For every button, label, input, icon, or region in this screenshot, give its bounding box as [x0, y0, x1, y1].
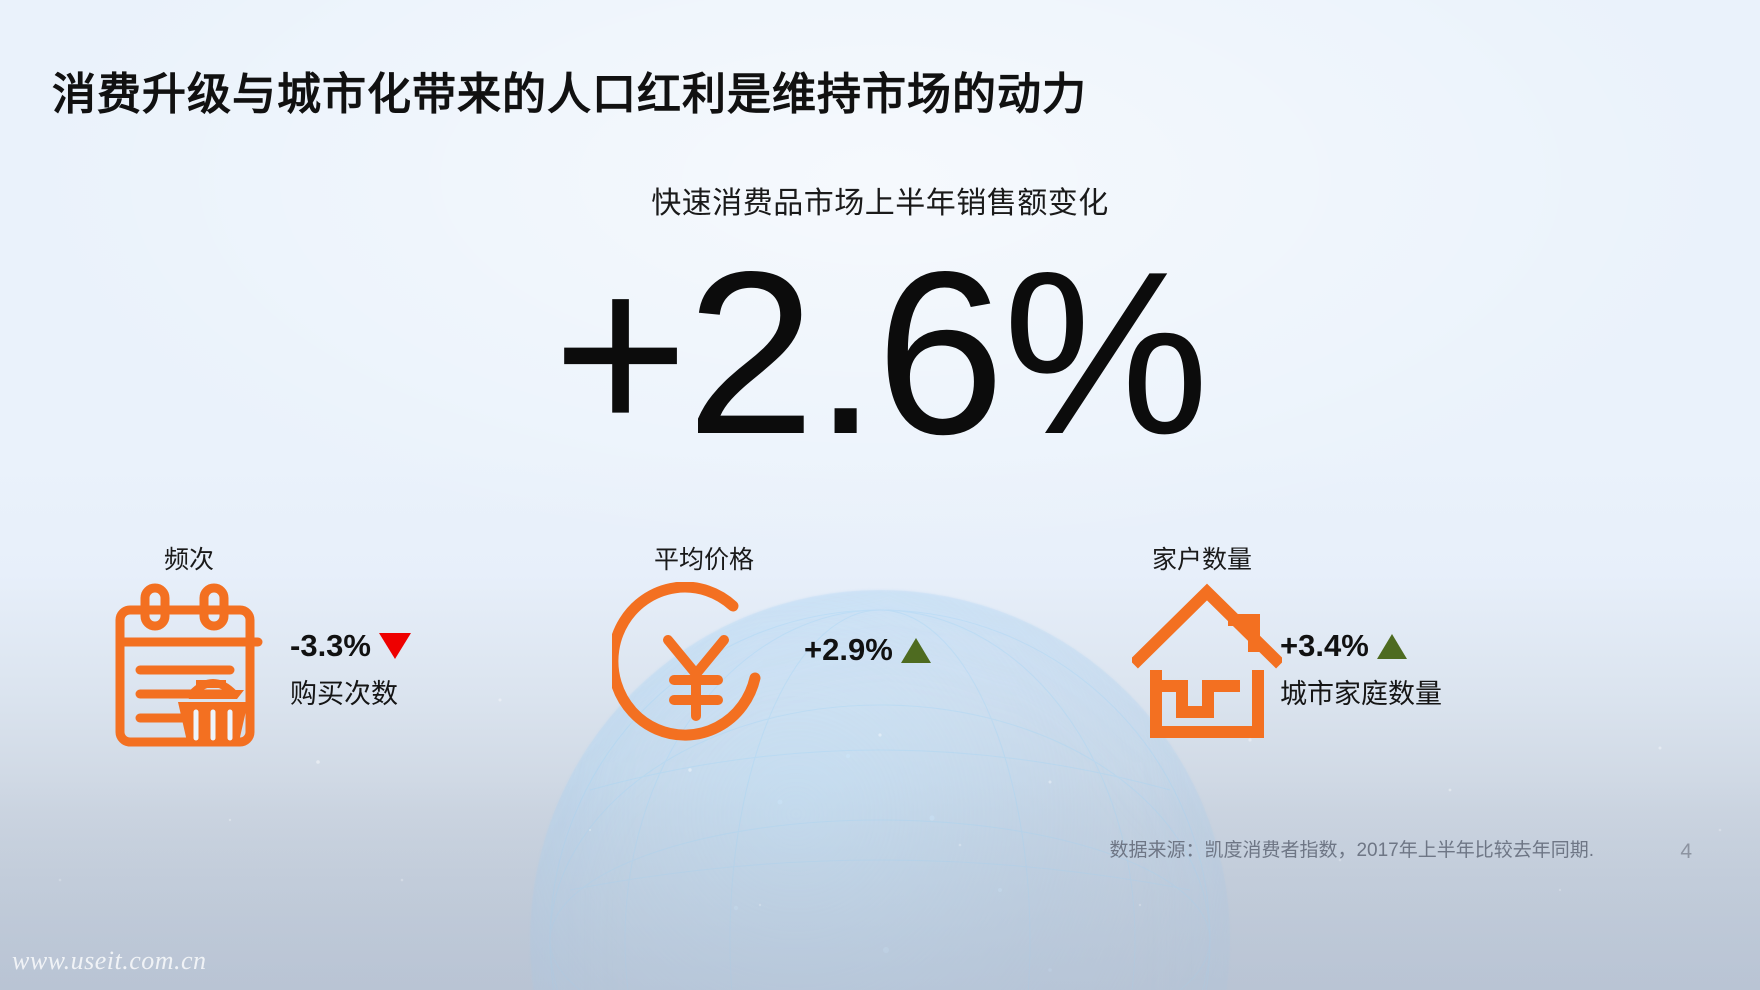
page-number: 4	[1680, 840, 1692, 864]
metric-average-price-percent: +2.9%	[804, 632, 893, 668]
metrics-row: 频次	[0, 540, 1760, 750]
slide-canvas: 消费升级与城市化带来的人口红利是维持市场的动力 快速消费品市场上半年销售额变化 …	[0, 0, 1760, 990]
metric-frequency-percent-row: -3.3%	[290, 628, 411, 664]
metric-frequency-sublabel: 购买次数	[290, 672, 411, 711]
metric-household-count-values: +3.4% 城市家庭数量	[1280, 628, 1442, 711]
metric-household-count-caption: 家户数量	[1152, 540, 1252, 576]
metric-frequency-percent: -3.3%	[290, 628, 371, 664]
metric-household-count-percent: +3.4%	[1280, 628, 1369, 664]
metric-household-count-percent-row: +3.4%	[1280, 628, 1442, 664]
trend-down-icon	[379, 633, 411, 659]
house-icon	[1132, 582, 1282, 747]
source-note: 数据来源：凯度消费者指数，2017年上半年比较去年同期.	[1109, 835, 1594, 862]
calendar-basket-icon	[112, 582, 282, 755]
metric-average-price: 平均价格 +2.9%	[612, 540, 1042, 750]
metric-average-price-caption: 平均价格	[654, 540, 754, 576]
page-title: 消费升级与城市化带来的人口红利是维持市场的动力	[52, 58, 1087, 122]
background-bottom-sheen	[0, 780, 1760, 990]
watermark: www.useit.com.cn	[12, 946, 207, 976]
metric-average-price-values: +2.9%	[804, 632, 931, 676]
metric-frequency-caption: 频次	[164, 540, 214, 576]
metric-average-price-percent-row: +2.9%	[804, 632, 931, 668]
metric-household-count-sublabel: 城市家庭数量	[1280, 672, 1442, 711]
metric-frequency: 频次	[112, 540, 532, 750]
trend-up-icon	[901, 638, 931, 663]
yuan-circle-icon	[612, 582, 780, 753]
headline-big-value: +2.6%	[0, 238, 1760, 470]
trend-up-icon	[1377, 634, 1407, 659]
headline-subtitle: 快速消费品市场上半年销售额变化	[0, 186, 1760, 222]
metric-household-count: 家户数量 +3.4%	[1132, 540, 1592, 750]
metric-frequency-values: -3.3% 购买次数	[290, 628, 411, 711]
headline-block: 快速消费品市场上半年销售额变化 +2.6%	[0, 186, 1760, 470]
